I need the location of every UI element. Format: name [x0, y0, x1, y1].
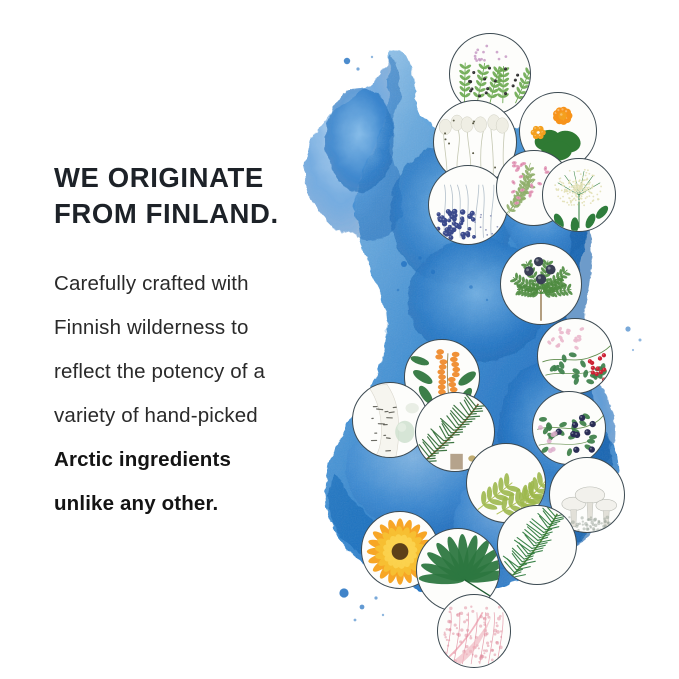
body-line: reflect the potency of a	[54, 350, 354, 394]
copy-block: WE ORIGINATE FROM FINLAND. Carefully cra…	[54, 160, 354, 526]
ingredient-circle-juniper-berries	[500, 243, 582, 325]
lingonberry-icon	[538, 319, 612, 393]
elderflower-icon	[543, 159, 615, 231]
promo-graphic: WE ORIGINATE FROM FINLAND. Carefully cra…	[0, 0, 679, 679]
ingredient-circle-bilberry	[532, 391, 606, 465]
bilberry-icon	[533, 392, 605, 464]
juniper-icon	[501, 244, 581, 324]
body-copy: Carefully crafted withFinnish wilderness…	[54, 262, 354, 526]
body-line: Carefully crafted with	[54, 262, 354, 306]
body-line: unlike any other.	[54, 482, 354, 526]
ingredient-circle-crowberry-sprigs	[428, 165, 508, 245]
body-line: Finnish wilderness to	[54, 306, 354, 350]
page-title: WE ORIGINATE FROM FINLAND.	[54, 160, 354, 232]
ingredient-circle-elderflower	[542, 158, 616, 232]
rosebay-icon	[438, 595, 510, 667]
ingredient-circle-rosebay-pink	[437, 594, 511, 668]
pine-icon	[498, 506, 576, 584]
crowberry-icon	[429, 166, 507, 244]
body-line: variety of hand-picked	[54, 394, 354, 438]
body-line: Arctic ingredients	[54, 438, 354, 482]
ingredient-circle-pine-sprig	[497, 505, 577, 585]
ingredient-circle-lingonberry	[537, 318, 613, 394]
